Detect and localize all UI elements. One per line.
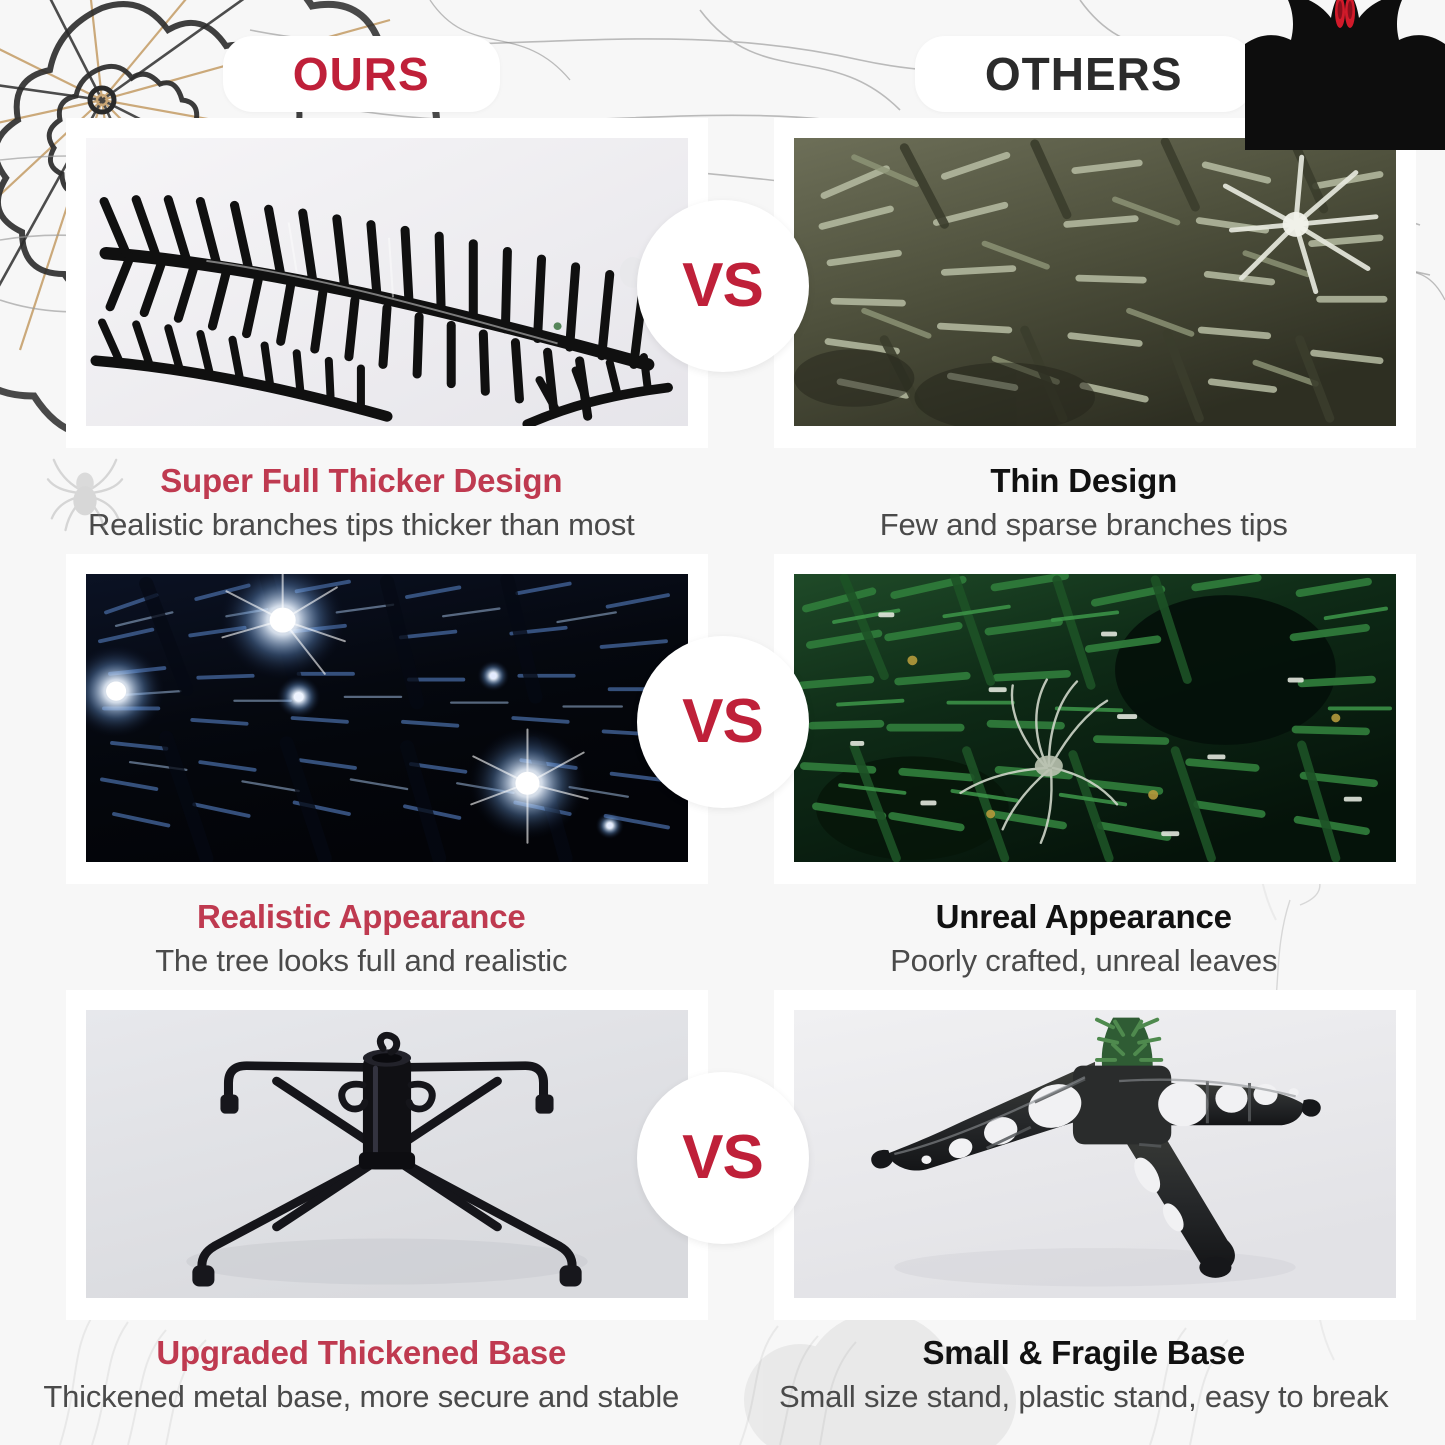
row2-others-caption: Unreal Appearance Poorly crafted, unreal…: [723, 896, 1445, 982]
vs-label: VS: [682, 255, 763, 317]
row2-ours-cell: Realistic Appearance The tree looks full…: [0, 554, 723, 990]
row1-others-cell: Thin Design Few and sparse branches tips: [723, 118, 1445, 554]
vs-label: VS: [682, 691, 763, 753]
ours-header-pill: OURS: [223, 36, 500, 112]
header-col-others: OTHERS: [723, 28, 1445, 120]
vs-label: VS: [682, 1127, 763, 1189]
row2-ours-photo-card: [66, 554, 708, 884]
comparison-row-1: Super Full Thicker Design Realistic bran…: [0, 118, 1445, 554]
vs-badge-2: VS: [637, 636, 809, 808]
header-row: OURS OTHERS: [0, 28, 1445, 120]
metal-tree-stand-photo: [86, 1010, 688, 1298]
row3-ours-subtitle: Thickened metal base, more secure and st…: [0, 1377, 723, 1417]
row1-others-subtitle: Few and sparse branches tips: [723, 505, 1445, 545]
header-col-ours: OURS: [0, 28, 723, 120]
plastic-tree-stand-photo: [794, 1010, 1396, 1298]
vs-badge-1: VS: [637, 200, 809, 372]
comparison-infographic: OURS OTHERS: [0, 0, 1445, 1445]
row1-ours-caption: Super Full Thicker Design Realistic bran…: [0, 460, 723, 546]
row1-ours-cell: Super Full Thicker Design Realistic bran…: [0, 118, 723, 554]
row1-others-caption: Thin Design Few and sparse branches tips: [723, 460, 1445, 546]
row2-others-subtitle: Poorly crafted, unreal leaves: [723, 941, 1445, 981]
row3-ours-caption: Upgraded Thickened Base Thickened metal …: [0, 1332, 723, 1418]
others-header-pill: OTHERS: [915, 36, 1253, 112]
black-branch-photo: [86, 138, 688, 426]
row1-others-photo-card: [774, 118, 1416, 448]
comparison-row-3: Upgraded Thickened Base Thickened metal …: [0, 990, 1445, 1426]
row2-ours-caption: Realistic Appearance The tree looks full…: [0, 896, 723, 982]
comparison-row-2: Realistic Appearance The tree looks full…: [0, 554, 1445, 990]
row3-others-caption: Small & Fragile Base Small size stand, p…: [723, 1332, 1445, 1418]
vs-badge-3: VS: [637, 1072, 809, 1244]
comparison-grid: Super Full Thicker Design Realistic bran…: [0, 118, 1445, 1426]
row3-others-photo-card: [774, 990, 1416, 1320]
green-needles-photo: [794, 574, 1396, 862]
row3-ours-title: Upgraded Thickened Base: [0, 1332, 723, 1373]
sparse-branch-photo: [794, 138, 1396, 426]
row2-ours-title: Realistic Appearance: [0, 896, 723, 937]
row3-ours-photo-card: [66, 990, 708, 1320]
row1-others-title: Thin Design: [723, 460, 1445, 501]
row3-others-cell: Small & Fragile Base Small size stand, p…: [723, 990, 1445, 1426]
row3-others-subtitle: Small size stand, plastic stand, easy to…: [723, 1377, 1445, 1417]
row1-ours-photo-card: [66, 118, 708, 448]
row2-others-photo-card: [774, 554, 1416, 884]
row2-others-title: Unreal Appearance: [723, 896, 1445, 937]
row3-others-title: Small & Fragile Base: [723, 1332, 1445, 1373]
lit-black-tree-photo: [86, 574, 688, 862]
spider-icon: [46, 454, 124, 532]
row3-ours-cell: Upgraded Thickened Base Thickened metal …: [0, 990, 723, 1426]
row2-others-cell: Unreal Appearance Poorly crafted, unreal…: [723, 554, 1445, 990]
row2-ours-subtitle: The tree looks full and realistic: [0, 941, 723, 981]
